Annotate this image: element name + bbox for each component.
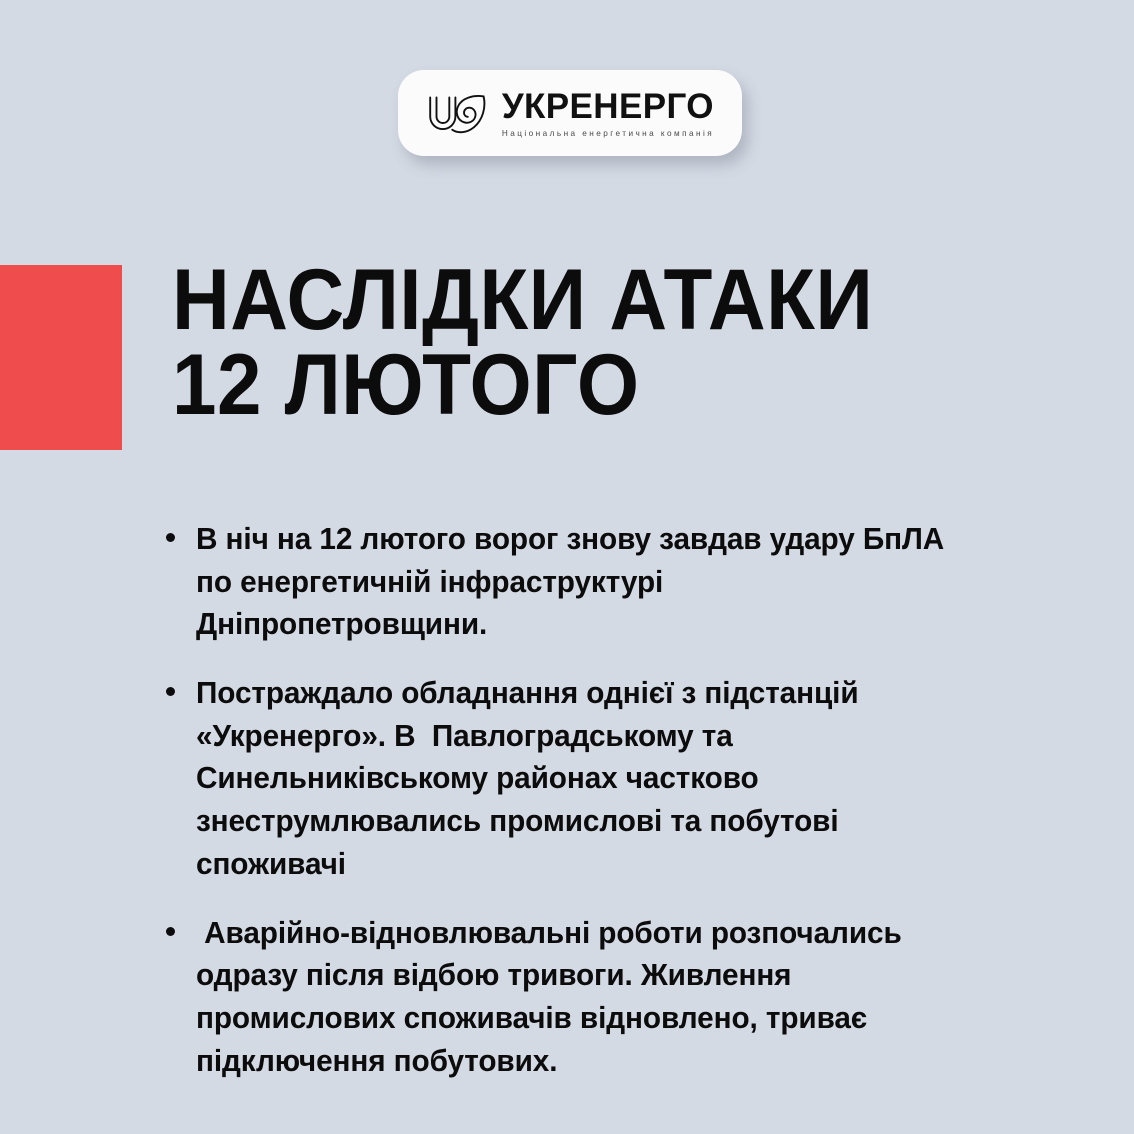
bullet-list: В ніч на 12 лютого ворог знову завдав уд… [166,518,966,1082]
list-item: В ніч на 12 лютого ворог знову завдав уд… [166,518,966,646]
red-accent-block [0,265,122,450]
page-title: НАСЛІДКИ АТАКИ 12 ЛЮТОГО [172,258,1009,428]
list-item-text: В ніч на 12 лютого ворог знову завдав уд… [196,518,947,646]
list-item: Постраждало обладнання однієї з підстанц… [166,672,966,885]
list-item-text: Аварійно-відновлювальні роботи розпочали… [196,912,947,1083]
bullet-dot-icon [166,927,175,936]
ukrenergo-leaf-mark-icon [426,91,488,137]
page-title-line-2: 12 ЛЮТОГО [172,343,1009,428]
page-title-line-1: НАСЛІДКИ АТАКИ [172,258,1009,343]
bullet-dot-icon [166,687,175,696]
logo-card: УКРЕНЕРГО Національна енергетична компан… [398,70,742,156]
list-item-text: Постраждало обладнання однієї з підстанц… [196,672,947,885]
logo-tagline: Національна енергетична компанія [502,130,714,138]
logo-text-block: УКРЕНЕРГО Національна енергетична компан… [502,89,714,138]
logo-wordmark: УКРЕНЕРГО [502,89,714,124]
infographic-canvas: { "theme": { "background_color": "#d4dae… [0,0,1134,1134]
list-item: Аварійно-відновлювальні роботи розпочали… [166,912,966,1083]
bullet-dot-icon [166,533,175,542]
